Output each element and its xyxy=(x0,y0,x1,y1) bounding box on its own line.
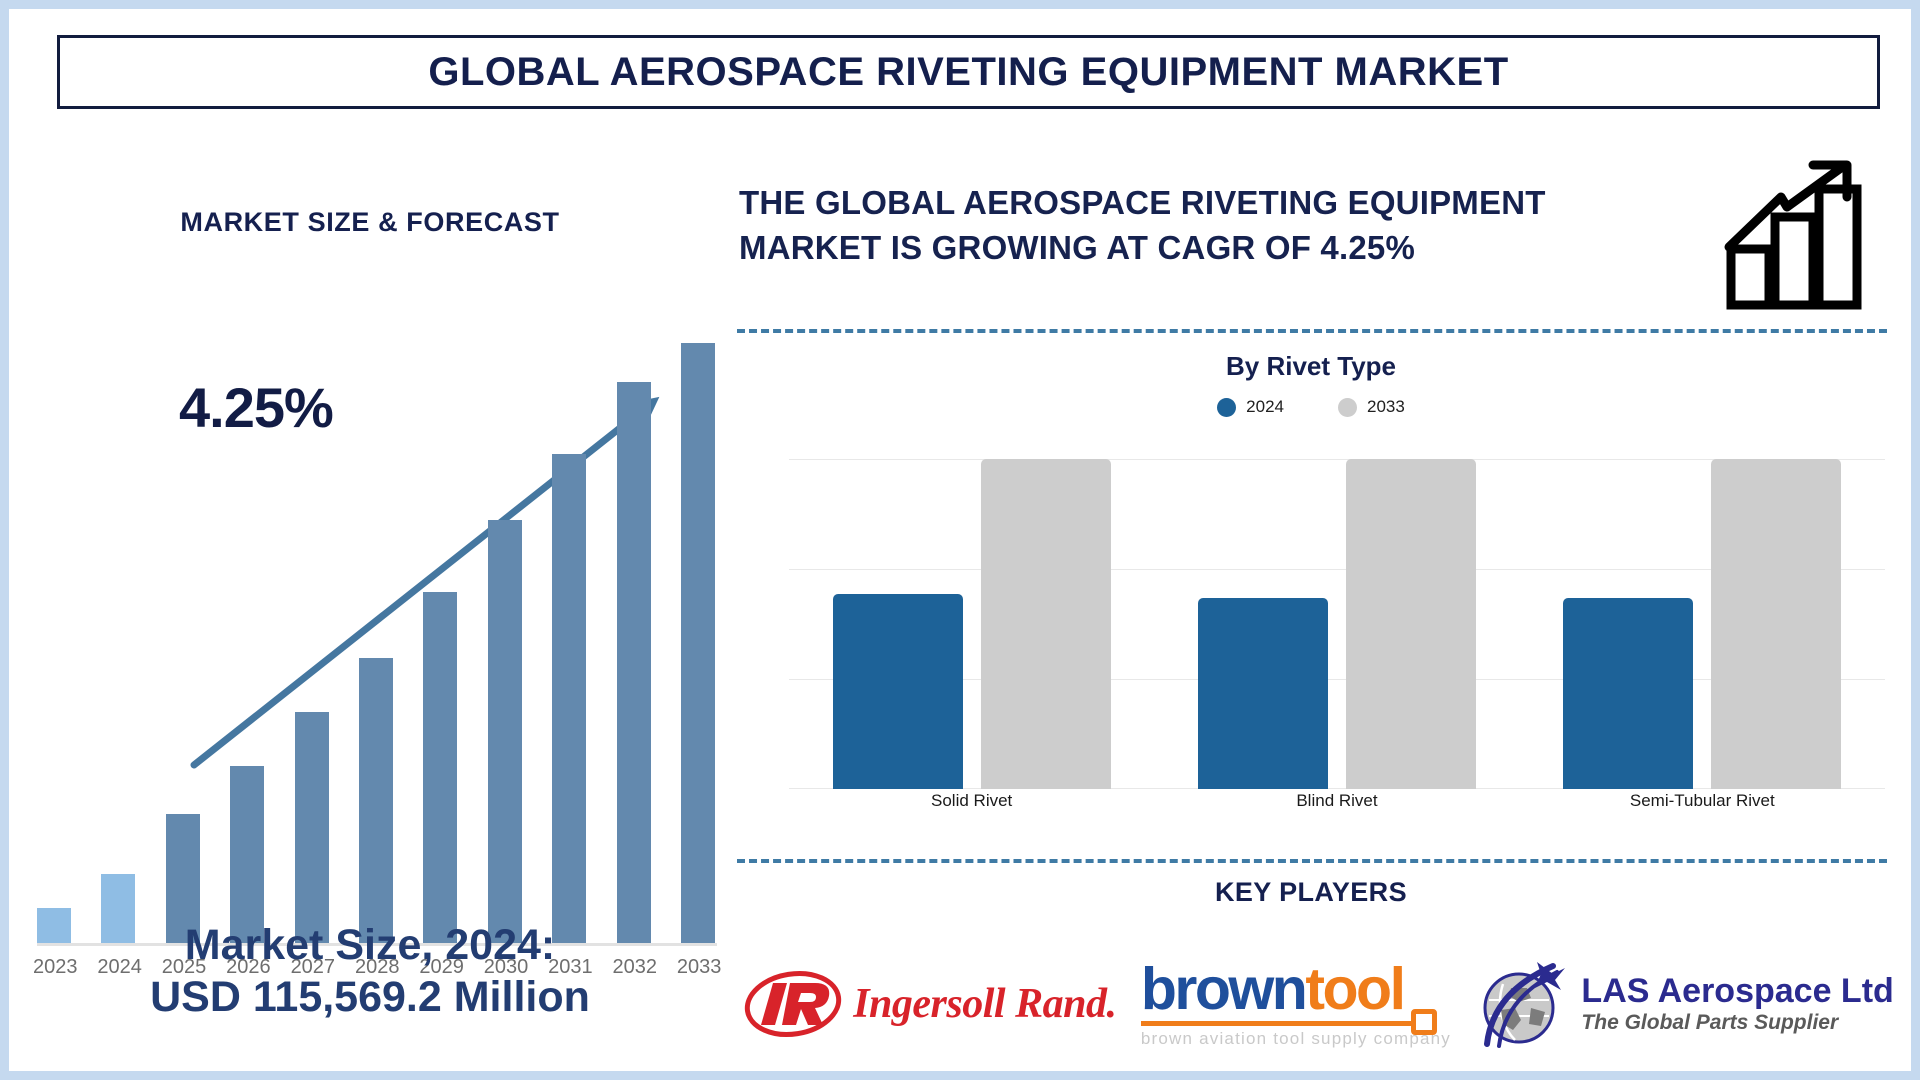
legend-item-2033: 2033 xyxy=(1338,397,1405,417)
las-text-block: LAS Aerospace Ltd The Global Parts Suppl… xyxy=(1581,973,1893,1034)
divider-top xyxy=(737,329,1887,333)
bar-2029 xyxy=(423,592,457,943)
legend-item-2024: 2024 xyxy=(1217,397,1284,417)
las-aerospace-wordmark: LAS Aerospace Ltd xyxy=(1581,973,1893,1010)
market-size-2024-block: Market Size, 2024: USD 115,569.2 Million xyxy=(9,919,731,1024)
bar-blind-rivet-2033 xyxy=(1346,459,1476,789)
market-size-forecast-heading: MARKET SIZE & FORECAST xyxy=(9,207,731,238)
logo-ingersoll-rand: Ingersoll Rand. xyxy=(743,934,1116,1074)
logo-browntool: browntool brown aviation tool supply com… xyxy=(1141,934,1451,1074)
ingersoll-rand-mark-icon xyxy=(743,965,847,1043)
bar-group-blind-rivet xyxy=(1187,459,1487,789)
las-aerospace-tagline: The Global Parts Supplier xyxy=(1581,1011,1893,1035)
browntool-square-icon xyxy=(1411,1009,1437,1035)
rivet-chart-legend: 2024 2033 xyxy=(731,397,1891,417)
bar-semi-tubular-rivet-2024 xyxy=(1563,598,1693,789)
logo-las-aerospace: LAS Aerospace Ltd The Global Parts Suppl… xyxy=(1475,934,1893,1074)
category-label-blind-rivet: Blind Rivet xyxy=(1187,791,1487,811)
legend-dot-2033 xyxy=(1338,398,1357,417)
legend-label-2033: 2033 xyxy=(1367,397,1405,417)
growth-bars-container xyxy=(31,343,721,943)
infographic-page: GLOBAL AEROSPACE RIVETING EQUIPMENT MARK… xyxy=(9,9,1911,1071)
key-players-title: KEY PLAYERS xyxy=(731,877,1891,908)
rivet-bar-groups xyxy=(789,459,1885,789)
market-size-forecast-panel: MARKET SIZE & FORECAST 4.25% xyxy=(9,129,731,1069)
page-title: GLOBAL AEROSPACE RIVETING EQUIPMENT MARK… xyxy=(428,50,1508,95)
category-label-semi-tubular-rivet: Semi-Tubular Rivet xyxy=(1552,791,1852,811)
bar-2026 xyxy=(230,766,264,943)
browntool-part-brown: brown xyxy=(1141,956,1305,1022)
title-banner: GLOBAL AEROSPACE RIVETING EQUIPMENT MARK… xyxy=(57,35,1880,109)
bar-2033 xyxy=(681,343,715,943)
bar-solid-rivet-2024 xyxy=(833,594,963,789)
bar-2028 xyxy=(359,658,393,943)
browntool-tagline: brown aviation tool supply company xyxy=(1141,1029,1451,1049)
bar-2032 xyxy=(617,382,651,943)
browntool-part-tool: tool xyxy=(1305,956,1403,1022)
market-size-line-1: Market Size, 2024: xyxy=(9,919,731,971)
globe-airplane-icon xyxy=(1475,958,1567,1050)
key-players-logos: Ingersoll Rand. browntool brown aviation… xyxy=(731,929,1906,1079)
bar-blind-rivet-2024 xyxy=(1198,598,1328,789)
bar-solid-rivet-2033 xyxy=(981,459,1111,789)
rivet-chart-category-labels: Solid Rivet Blind Rivet Semi-Tubular Riv… xyxy=(789,791,1885,811)
bar-2031 xyxy=(552,454,586,943)
right-panel: THE GLOBAL AEROSPACE RIVETING EQUIPMENT … xyxy=(731,129,1911,1069)
market-growth-bar-chart: 2023 2024 2025 2026 2027 2028 2029 2030 … xyxy=(31,309,721,979)
cagr-statement: THE GLOBAL AEROSPACE RIVETING EQUIPMENT … xyxy=(739,181,1619,270)
bar-group-semi-tubular-rivet xyxy=(1552,459,1852,789)
divider-bottom xyxy=(737,859,1887,863)
growth-bar-chart-arrow-icon xyxy=(1723,153,1863,313)
legend-label-2024: 2024 xyxy=(1246,397,1284,417)
ingersoll-rand-wordmark: Ingersoll Rand. xyxy=(853,980,1116,1028)
rivet-type-section-title: By Rivet Type xyxy=(731,351,1891,382)
legend-dot-2024 xyxy=(1217,398,1236,417)
bar-group-solid-rivet xyxy=(822,459,1122,789)
category-label-solid-rivet: Solid Rivet xyxy=(822,791,1122,811)
bar-2027 xyxy=(295,712,329,943)
bar-semi-tubular-rivet-2033 xyxy=(1711,459,1841,789)
browntool-wordmark: browntool xyxy=(1141,960,1404,1019)
rivet-type-bar-chart xyxy=(789,459,1885,789)
market-size-line-2: USD 115,569.2 Million xyxy=(9,971,731,1023)
bar-2030 xyxy=(488,520,522,943)
